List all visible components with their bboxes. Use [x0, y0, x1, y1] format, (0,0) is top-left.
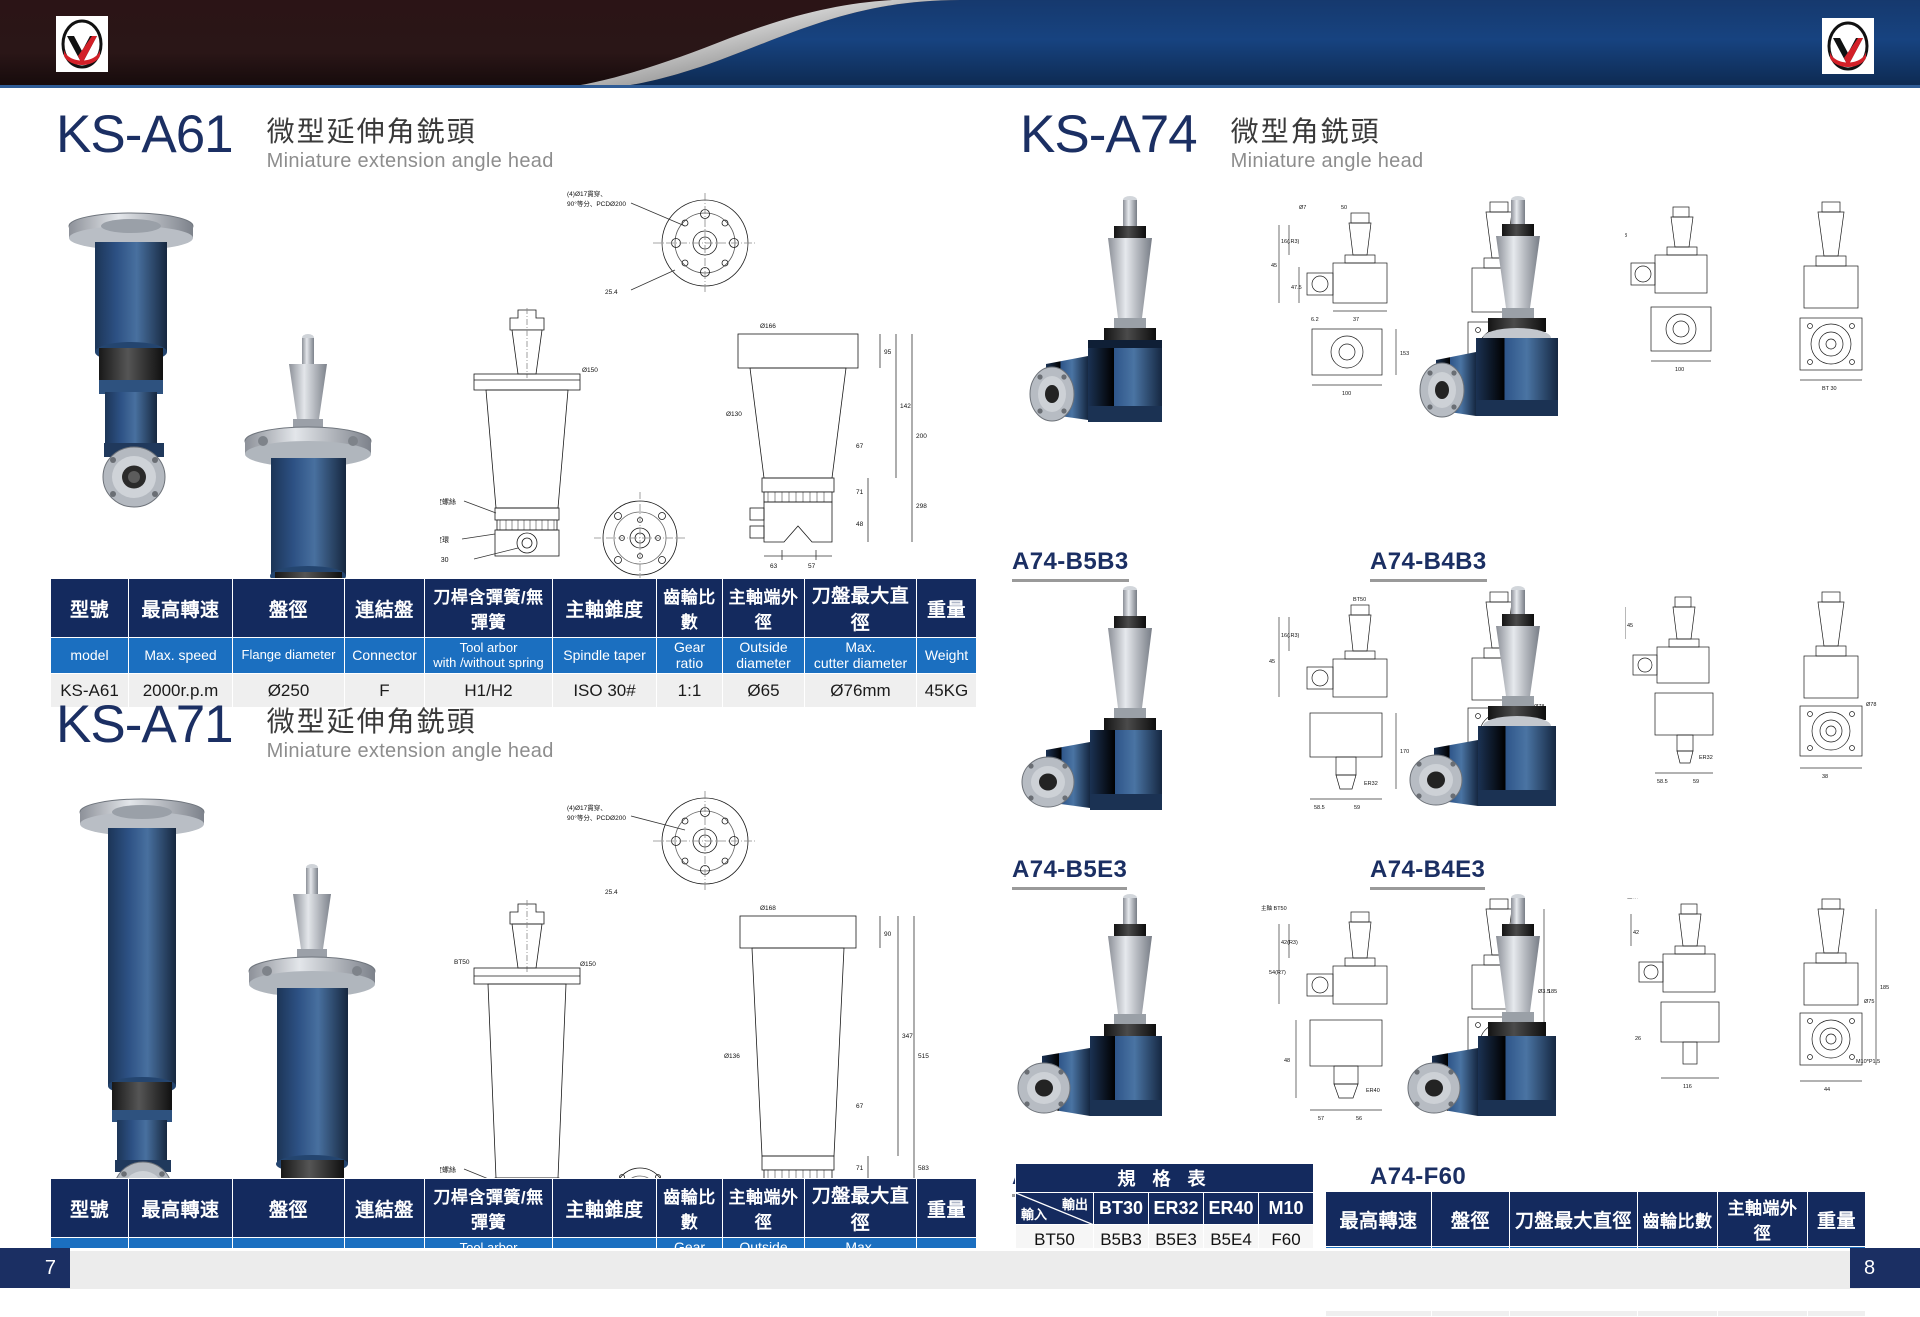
svg-text:16(.R3): 16(.R3) — [1281, 239, 1300, 245]
svg-text:BT50: BT50 — [1353, 597, 1366, 603]
svg-text:57: 57 — [808, 563, 816, 570]
table-header-row-cn: 最高轉速 盤徑 刀盤最大直徑 齒輪比數 主軸端外徑 重量 — [1326, 1192, 1866, 1247]
svg-text:42: 42 — [1633, 930, 1639, 936]
svg-text:58.5: 58.5 — [1657, 779, 1668, 785]
svg-text:M10*P1.5: M10*P1.5 — [1856, 1059, 1880, 1065]
technical-drawing-a74-f60-side: Ø75 M10*P1.5 44 185 — [1760, 893, 1910, 1153]
th-en-flange: Flange diameter — [233, 638, 345, 674]
variant-label-a74-b4e3: A74-B4E3 — [1370, 856, 1485, 890]
page-number-right: 8 — [1850, 1248, 1920, 1288]
svg-text:Ø7: Ø7 — [1299, 205, 1306, 211]
footer-bar — [60, 1251, 1860, 1289]
svg-text:56: 56 — [1356, 1116, 1362, 1122]
svg-text:100: 100 — [1342, 391, 1351, 397]
th-cn-cutter: 刀盤最大直徑 — [805, 1179, 917, 1238]
th-en-connector: Connector — [345, 638, 425, 674]
svg-text:100: 100 — [1675, 367, 1684, 373]
variant-label-text: A74-B4E3 — [1370, 856, 1485, 883]
svg-text:刻度螺絲: 刻度螺絲 — [440, 1165, 456, 1174]
product-model-ks-a74: KS-A74 — [1020, 108, 1197, 161]
svg-text:71: 71 — [856, 489, 864, 496]
technical-drawing-a74-b4e3-side: Ø78 38 — [1760, 588, 1910, 848]
svg-text:刻度螺絲: 刻度螺絲 — [440, 497, 456, 506]
svg-text:6.2: 6.2 — [1311, 317, 1319, 323]
variant-label-text: A74-B4B3 — [1370, 548, 1487, 575]
technical-drawing-ks-a61: (4)Ø17貫穿、 90°等分、PCDØ200 25.4 BT 50 Ø150 — [440, 188, 940, 628]
th-cn-flange: 盤徑 — [233, 1179, 345, 1238]
svg-text:26: 26 — [1635, 1036, 1641, 1042]
th-cn-gear: 齒輪比數 — [657, 1179, 723, 1238]
svg-text:67: 67 — [856, 443, 864, 450]
technical-drawing-a74-b4e3: BT40 45 ER32 58.5 59 — [1625, 593, 1775, 843]
matrix-col-m10: M10 — [1259, 1193, 1314, 1225]
company-v-logo-icon — [1822, 18, 1874, 74]
svg-text:主軸 BT50: 主軸 BT50 — [1261, 904, 1287, 912]
svg-text:Ø150: Ø150 — [582, 367, 598, 374]
product-title-ks-a74: KS-A74 微型角銑頭 Miniature angle head — [1020, 108, 1423, 174]
svg-text:16(.R3): 16(.R3) — [1281, 633, 1300, 639]
svg-text:58.5: 58.5 — [1314, 805, 1325, 811]
svg-text:25.4: 25.4 — [605, 889, 618, 896]
product-photo-ks-a61-a — [55, 198, 240, 518]
svg-text:ER32: ER32 — [1699, 755, 1713, 761]
matrix-corner-cell: 輸出 輸入 — [1016, 1193, 1094, 1225]
svg-text:ER40: ER40 — [1366, 1088, 1380, 1094]
svg-text:刻度環: 刻度環 — [440, 535, 449, 544]
product-title-ks-a61: KS-A61 微型延伸角銑頭 Miniature extension angle… — [56, 108, 554, 174]
svg-text:347: 347 — [902, 1033, 913, 1040]
svg-text:BT 30: BT 30 — [1822, 386, 1837, 392]
th-cn-outside: 主軸端外徑 — [723, 579, 805, 638]
th-en-model: model — [51, 638, 129, 674]
svg-text:59: 59 — [1693, 779, 1699, 785]
td-taper: ISO 30# — [553, 674, 657, 708]
product-model-ks-a71: KS-A71 — [56, 698, 233, 751]
svg-text:25.4: 25.4 — [605, 289, 618, 296]
technical-drawing-a74-b4b3-side: BT 30 — [1760, 198, 1910, 458]
th-cn-gear: 齒輪比數 — [1638, 1192, 1718, 1247]
svg-text:63: 63 — [770, 563, 778, 570]
product-photo-a74-f60 — [1400, 888, 1630, 1168]
th-en-outside: Outside diameter — [723, 638, 805, 674]
technical-drawing-ks-a71: (4)Ø17貫穿、 90°等分、PCDØ200 25.4 BT 50 Ø150 … — [440, 788, 940, 1228]
svg-text:45: 45 — [1269, 659, 1275, 665]
th-cn-connector: 連結盤 — [345, 1179, 425, 1238]
svg-text:90: 90 — [884, 931, 892, 938]
matrix-col-er32: ER32 — [1149, 1193, 1204, 1225]
matrix-header-row: 輸出 輸入 BT30 ER32 ER40 M10 — [1016, 1193, 1314, 1225]
svg-text:67: 67 — [856, 1103, 864, 1110]
th-cn-arbor: 刀桿含彈簧/無彈簧 — [425, 579, 553, 638]
product-photo-a74-b5e3 — [1010, 578, 1240, 868]
th-cn-connector: 連結盤 — [345, 579, 425, 638]
svg-text:Ø78: Ø78 — [1866, 702, 1876, 708]
th-en-speed: Max. speed — [129, 638, 233, 674]
product-title-ks-a71: KS-A71 微型延伸角銑頭 Miniature extension angle… — [56, 698, 554, 764]
th-cn-taper: 主軸錐度 — [553, 579, 657, 638]
matrix-title-row: 規 格 表 — [1016, 1164, 1314, 1193]
th-cn-weight: 重量 — [1808, 1192, 1866, 1247]
matrix-title: 規 格 表 — [1016, 1164, 1314, 1193]
svg-text:50: 50 — [1341, 205, 1347, 211]
product-name-cn-ks-a71: 微型延伸角銑頭 — [267, 706, 554, 738]
th-en-cutter: Max. cutter diameter — [805, 638, 917, 674]
svg-text:Ø166: Ø166 — [760, 323, 776, 330]
table-header-row-en: model Max. speed Flange diameter Connect… — [51, 638, 977, 674]
page-header-banner — [0, 0, 1920, 88]
banner-graphic — [0, 0, 1920, 88]
svg-text:45: 45 — [1271, 263, 1277, 269]
left-page: KS-A61 微型延伸角銑頭 Miniature extension angle… — [0, 88, 960, 1248]
svg-text:BT50: BT50 — [454, 959, 470, 966]
th-en-gear: Gear ratio — [657, 638, 723, 674]
variant-label-a74-b5e3: A74-B5E3 — [1012, 856, 1127, 890]
th-cn-gear: 齒輪比數 — [657, 579, 723, 638]
td-gear: 1:1 — [657, 674, 723, 708]
spec-table-ks-a61: 型號 最高轉速 盤徑 連結盤 刀桿含彈簧/無彈簧 主軸錐度 齒輪比數 主軸端外徑… — [50, 578, 977, 708]
svg-text:37: 37 — [1353, 317, 1359, 323]
svg-text:54(R7): 54(R7) — [1269, 970, 1286, 976]
th-cn-outside: 主軸端外徑 — [723, 1179, 805, 1238]
svg-text:Ø75: Ø75 — [1864, 999, 1874, 1005]
product-photo-a74-b5b3 — [1010, 188, 1240, 478]
svg-text:200: 200 — [916, 433, 927, 440]
svg-text:57: 57 — [1318, 1116, 1324, 1122]
th-cn-outside: 主軸端外徑 — [1718, 1192, 1808, 1247]
product-photo-a74-b4e3 — [1400, 578, 1630, 868]
svg-text:Ø150: Ø150 — [580, 961, 596, 968]
svg-text:90°等分、PCDØ200: 90°等分、PCDØ200 — [567, 813, 626, 822]
svg-text:Ø168: Ø168 — [760, 905, 776, 912]
svg-text:43: 43 — [1625, 233, 1627, 239]
svg-text:38: 38 — [1822, 774, 1828, 780]
svg-text:主軸 BT50: 主軸 BT50 — [1627, 898, 1653, 900]
svg-text:298: 298 — [916, 503, 927, 510]
svg-text:71: 71 — [856, 1165, 864, 1172]
th-en-arbor: Tool arbor with /without spring — [425, 638, 553, 674]
svg-text:90°等分、PCDØ200: 90°等分、PCDØ200 — [567, 199, 626, 208]
svg-text:116: 116 — [1683, 1084, 1692, 1090]
variant-label-text: A74-F60 — [1370, 1163, 1466, 1190]
svg-text:主軸BT 30: 主軸BT 30 — [440, 555, 449, 564]
table-header-row-cn: 型號 最高轉速 盤徑 連結盤 刀桿含彈簧/無彈簧 主軸錐度 齒輪比數 主軸端外徑… — [51, 1179, 977, 1238]
svg-text:59: 59 — [1354, 805, 1360, 811]
th-cn-cutter: 刀盤最大直徑 — [805, 579, 917, 638]
svg-text:Ø136: Ø136 — [724, 1053, 740, 1060]
product-photo-a74-b5e4 — [1010, 888, 1240, 1168]
svg-text:44: 44 — [1824, 1087, 1830, 1093]
th-cn-speed: 最高轉速 — [129, 1179, 233, 1238]
company-v-logo-icon — [56, 16, 108, 72]
matrix-corner-input-label: 輸入 — [1021, 1204, 1047, 1223]
variant-label-a74-b4b3: A74-B4B3 — [1370, 548, 1487, 582]
th-cn-taper: 主軸錐度 — [553, 1179, 657, 1238]
company-logo-right — [1822, 18, 1874, 74]
svg-text:Ø130: Ø130 — [726, 411, 742, 418]
product-model-ks-a61: KS-A61 — [56, 108, 233, 161]
svg-text:583: 583 — [918, 1165, 929, 1172]
right-page: KS-A74 微型角銑頭 Miniature angle head — [960, 88, 1920, 1248]
svg-text:(4)Ø17貫穿、: (4)Ø17貫穿、 — [567, 189, 607, 198]
product-name-cn-ks-a61: 微型延伸角銑頭 — [267, 116, 554, 148]
svg-text:185: 185 — [1880, 985, 1889, 991]
table-header-row-cn: 型號 最高轉速 盤徑 連結盤 刀桿含彈簧/無彈簧 主軸錐度 齒輪比數 主軸端外徑… — [51, 579, 977, 638]
th-cn-model: 型號 — [51, 1179, 129, 1238]
th-cn-cutter: 刀盤最大直徑 — [1510, 1192, 1638, 1247]
matrix-corner-output-label: 輸出 — [1062, 1194, 1088, 1213]
svg-text:(4)Ø17貫穿、: (4)Ø17貫穿、 — [567, 803, 607, 812]
matrix-col-bt30: BT30 — [1094, 1193, 1149, 1225]
svg-text:ER32: ER32 — [1364, 781, 1378, 787]
th-cn-flange: 盤徑 — [233, 579, 345, 638]
th-en-taper: Spindle taper — [553, 638, 657, 674]
svg-text:47.5: 47.5 — [1291, 285, 1302, 291]
svg-text:45: 45 — [1627, 623, 1633, 629]
product-photo-a74-b4b3 — [1400, 188, 1630, 478]
td-outside: Ø65 — [723, 674, 805, 708]
page-number-left: 7 — [0, 1248, 70, 1288]
th-cn-flange: 盤徑 — [1432, 1192, 1510, 1247]
svg-text:42(R3): 42(R3) — [1281, 940, 1298, 946]
td-cutter: Ø76mm — [805, 674, 917, 708]
company-logo-left — [56, 16, 108, 72]
product-name-en-ks-a74: Miniature angle head — [1231, 148, 1424, 174]
variant-label-text: A74-B5B3 — [1012, 548, 1129, 575]
variant-label-text: A74-B5E3 — [1012, 856, 1127, 883]
technical-drawing-a74-b4b3: Ø7 43 100 — [1625, 203, 1765, 453]
matrix-col-er40: ER40 — [1204, 1193, 1259, 1225]
svg-text:48: 48 — [1284, 1058, 1290, 1064]
product-name-cn-ks-a74: 微型角銑頭 — [1231, 116, 1424, 148]
th-cn-arbor: 刀桿含彈簧/無彈簧 — [425, 1179, 553, 1238]
product-name-en-ks-a61: Miniature extension angle head — [267, 148, 554, 174]
product-name-en-ks-a71: Miniature extension angle head — [267, 738, 554, 764]
th-cn-speed: 最高轉速 — [1326, 1192, 1432, 1247]
svg-text:515: 515 — [918, 1053, 929, 1060]
variant-label-a74-b5b3: A74-B5B3 — [1012, 548, 1129, 582]
th-cn-speed: 最高轉速 — [129, 579, 233, 638]
svg-text:48: 48 — [856, 521, 864, 528]
svg-text:95: 95 — [884, 349, 892, 356]
svg-text:142: 142 — [900, 403, 911, 410]
th-cn-model: 型號 — [51, 579, 129, 638]
